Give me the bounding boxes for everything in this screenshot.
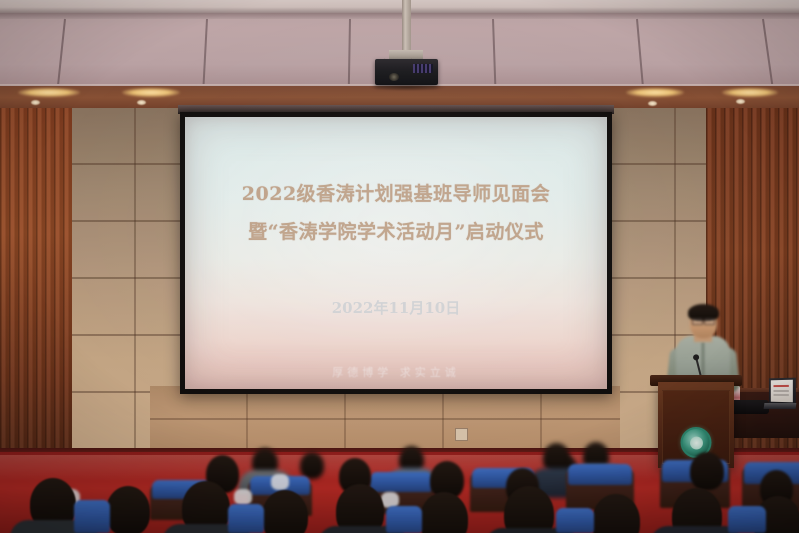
- audience-head: [504, 486, 554, 533]
- seat-back: [370, 472, 432, 492]
- seat-back: [728, 506, 766, 533]
- seat-back: [228, 504, 264, 533]
- audience-head: [420, 492, 468, 533]
- audience: [0, 0, 799, 533]
- seat-back: [386, 506, 422, 533]
- seat-back: [556, 508, 594, 533]
- seat-back: [74, 500, 110, 533]
- audience-head: [106, 486, 150, 533]
- audience-head: [300, 452, 324, 479]
- seat-back: [568, 464, 632, 485]
- audience-head: [690, 452, 724, 490]
- audience-head: [262, 490, 308, 533]
- face-mask: [234, 489, 252, 505]
- auditorium-photo: 2022级香涛计划强基班导师见面会 暨“香涛学院学术活动月”启动仪式 2022年…: [0, 0, 799, 533]
- face-mask: [271, 474, 289, 490]
